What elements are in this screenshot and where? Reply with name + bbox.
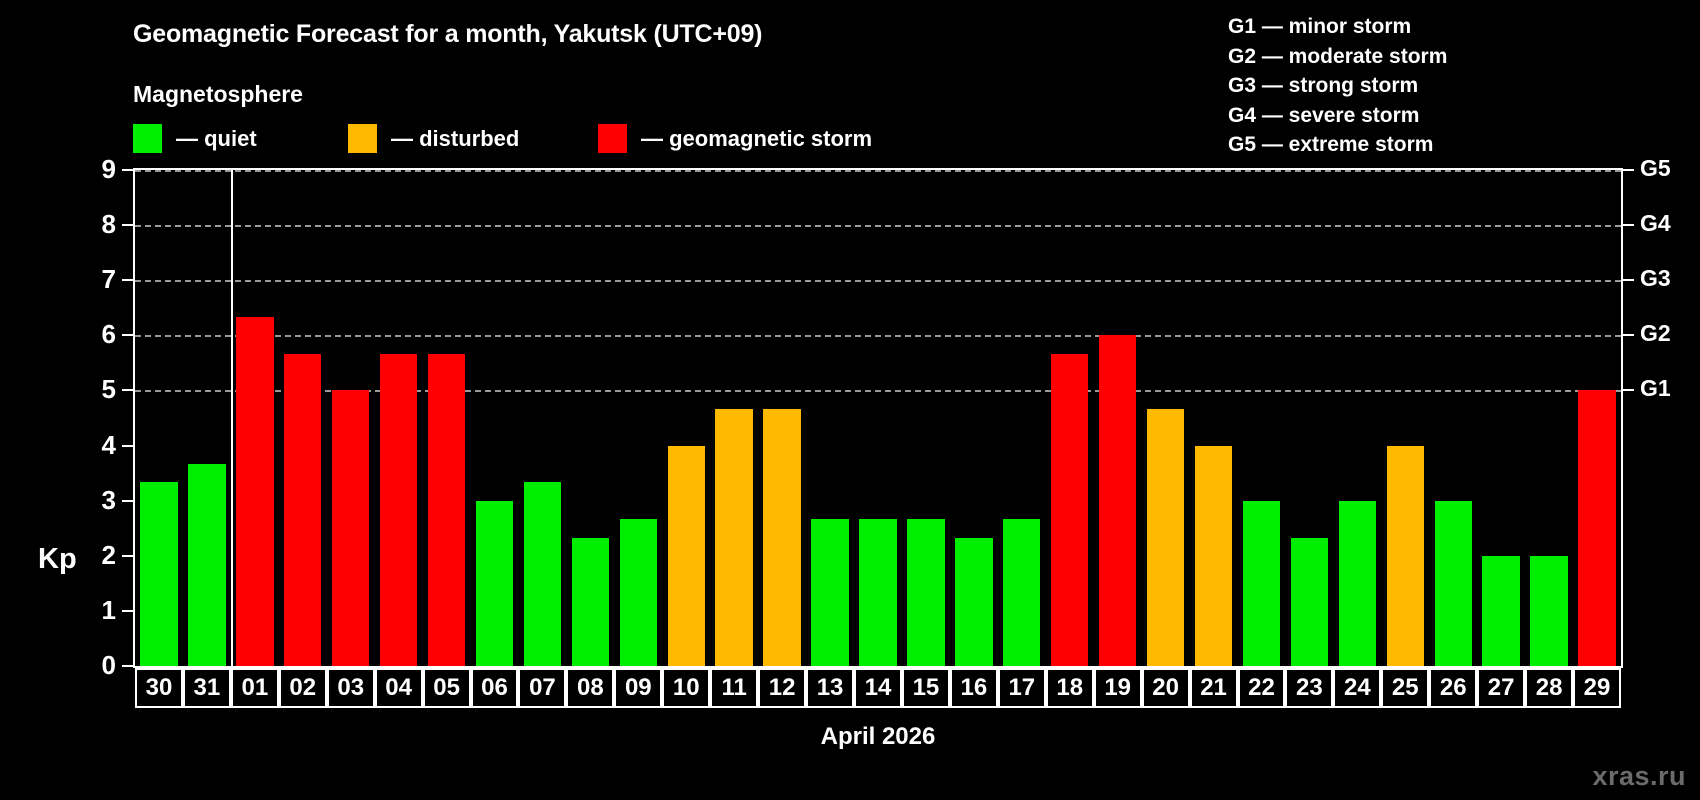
g-tick-mark	[1623, 334, 1634, 336]
bar-day-01[interactable]	[236, 317, 273, 666]
day-label-06[interactable]: 06	[471, 668, 519, 708]
day-label-29[interactable]: 29	[1573, 668, 1621, 708]
day-label-30[interactable]: 30	[135, 668, 183, 708]
kp-tick-label: 1	[76, 595, 116, 626]
day-label-03[interactable]: 03	[327, 668, 375, 708]
g-tick-label: G1	[1640, 375, 1671, 402]
g-tick-label: G5	[1640, 155, 1671, 182]
legend-label-disturbed: — disturbed	[391, 126, 519, 152]
legend-label-storm: — geomagnetic storm	[641, 126, 872, 152]
bar-day-29[interactable]	[1578, 390, 1615, 666]
page-title: Geomagnetic Forecast for a month, Yakuts…	[133, 20, 762, 49]
day-label-23[interactable]: 23	[1285, 668, 1333, 708]
bar-day-16[interactable]	[955, 538, 992, 666]
kp-tick-mark	[122, 445, 133, 447]
g-tick-label: G3	[1640, 265, 1671, 292]
kp-tick-mark	[122, 279, 133, 281]
legend-label-quiet: — quiet	[176, 126, 257, 152]
bar-day-28[interactable]	[1530, 556, 1567, 666]
bar-day-07[interactable]	[524, 482, 561, 666]
plot-area	[133, 168, 1623, 668]
day-label-25[interactable]: 25	[1381, 668, 1429, 708]
legend-swatch-storm	[598, 124, 627, 153]
bar-day-24[interactable]	[1339, 501, 1376, 666]
g-tick-mark	[1623, 389, 1634, 391]
kp-tick-label: 2	[76, 540, 116, 571]
day-label-05[interactable]: 05	[423, 668, 471, 708]
g-tick-mark	[1623, 169, 1634, 171]
kp-tick-mark	[122, 665, 133, 667]
day-label-21[interactable]: 21	[1190, 668, 1238, 708]
kp-tick-label: 5	[76, 374, 116, 405]
day-label-28[interactable]: 28	[1525, 668, 1573, 708]
legend-item-storm: — geomagnetic storm	[598, 124, 872, 153]
g-tick-label: G4	[1640, 210, 1671, 237]
kp-tick-mark	[122, 555, 133, 557]
day-label-11[interactable]: 11	[710, 668, 758, 708]
bar-day-22[interactable]	[1243, 501, 1280, 666]
bar-day-23[interactable]	[1291, 538, 1328, 666]
bar-day-10[interactable]	[668, 446, 705, 666]
kp-tick-mark	[122, 224, 133, 226]
legend-item-disturbed: — disturbed	[348, 124, 519, 153]
g-scale-row: G4 — severe storm	[1228, 101, 1447, 131]
day-label-10[interactable]: 10	[662, 668, 710, 708]
day-label-04[interactable]: 04	[375, 668, 423, 708]
bar-day-09[interactable]	[620, 519, 657, 666]
kp-tick-label: 9	[76, 154, 116, 185]
kp-tick-label: 8	[76, 209, 116, 240]
bar-day-05[interactable]	[428, 354, 465, 666]
g-scale-row: G2 — moderate storm	[1228, 42, 1447, 72]
g-scale-legend: G1 — minor storm G2 — moderate storm G3 …	[1228, 12, 1447, 160]
kp-tick-label: 6	[76, 319, 116, 350]
day-label-16[interactable]: 16	[950, 668, 998, 708]
kp-tick-label: 0	[76, 650, 116, 681]
day-label-17[interactable]: 17	[998, 668, 1046, 708]
day-label-26[interactable]: 26	[1429, 668, 1477, 708]
watermark: xras.ru	[1592, 761, 1686, 792]
bar-day-27[interactable]	[1482, 556, 1519, 666]
bar-day-21[interactable]	[1195, 446, 1232, 666]
kp-axis-label: Kp	[38, 543, 77, 576]
day-label-08[interactable]: 08	[566, 668, 614, 708]
day-label-13[interactable]: 13	[806, 668, 854, 708]
day-label-31[interactable]: 31	[183, 668, 231, 708]
day-label-07[interactable]: 07	[518, 668, 566, 708]
bar-day-30[interactable]	[140, 482, 177, 666]
bar-day-17[interactable]	[1003, 519, 1040, 666]
bar-day-20[interactable]	[1147, 409, 1184, 666]
day-label-20[interactable]: 20	[1142, 668, 1190, 708]
legend-swatch-disturbed	[348, 124, 377, 153]
day-label-24[interactable]: 24	[1333, 668, 1381, 708]
kp-tick-label: 3	[76, 485, 116, 516]
month-label-text: April 2026	[821, 723, 936, 750]
kp-tick-mark	[122, 610, 133, 612]
kp-axis: Kp 0123456789	[0, 168, 133, 668]
kp-tick-mark	[122, 334, 133, 336]
bar-day-06[interactable]	[476, 501, 513, 666]
kp-tick-mark	[122, 169, 133, 171]
bar-day-02[interactable]	[284, 354, 321, 666]
bar-day-26[interactable]	[1435, 501, 1472, 666]
bar-day-18[interactable]	[1051, 354, 1088, 666]
bar-layer	[135, 170, 1621, 666]
g-scale-row: G5 — extreme storm	[1228, 130, 1447, 160]
day-label-15[interactable]: 15	[902, 668, 950, 708]
bar-day-03[interactable]	[332, 390, 369, 666]
g-scale-row: G1 — minor storm	[1228, 12, 1447, 42]
g-scale-row: G3 — strong storm	[1228, 71, 1447, 101]
bar-day-31[interactable]	[188, 464, 225, 666]
legend-item-quiet: — quiet	[133, 124, 257, 153]
kp-tick-mark	[122, 389, 133, 391]
chart-page: Geomagnetic Forecast for a month, Yakuts…	[0, 0, 1700, 800]
legend-swatch-quiet	[133, 124, 162, 153]
day-label-09[interactable]: 09	[614, 668, 662, 708]
bar-day-13[interactable]	[811, 519, 848, 666]
bar-day-14[interactable]	[859, 519, 896, 666]
bar-day-12[interactable]	[763, 409, 800, 666]
month-separator	[231, 170, 233, 666]
kp-tick-label: 4	[76, 430, 116, 461]
kp-tick-label: 7	[76, 264, 116, 295]
day-label-strip: 3031010203040506070809101112131415161718…	[133, 668, 1623, 708]
month-label: April 2026	[133, 723, 1623, 751]
day-label-27[interactable]: 27	[1477, 668, 1525, 708]
g-tick-mark	[1623, 224, 1634, 226]
bar-day-11[interactable]	[715, 409, 752, 666]
bar-day-15[interactable]	[907, 519, 944, 666]
g-tick-mark	[1623, 279, 1634, 281]
bar-day-25[interactable]	[1387, 446, 1424, 666]
bar-day-08[interactable]	[572, 538, 609, 666]
day-label-02[interactable]: 02	[279, 668, 327, 708]
day-label-12[interactable]: 12	[758, 668, 806, 708]
day-label-14[interactable]: 14	[854, 668, 902, 708]
bar-day-04[interactable]	[380, 354, 417, 666]
chart-subtitle: Magnetosphere	[133, 81, 303, 108]
day-label-18[interactable]: 18	[1046, 668, 1094, 708]
day-label-19[interactable]: 19	[1094, 668, 1142, 708]
day-label-22[interactable]: 22	[1238, 668, 1286, 708]
day-label-01[interactable]: 01	[231, 668, 279, 708]
kp-tick-mark	[122, 500, 133, 502]
g-scale-axis: G1G2G3G4G5	[1623, 168, 1700, 668]
g-tick-label: G2	[1640, 320, 1671, 347]
bar-day-19[interactable]	[1099, 335, 1136, 666]
